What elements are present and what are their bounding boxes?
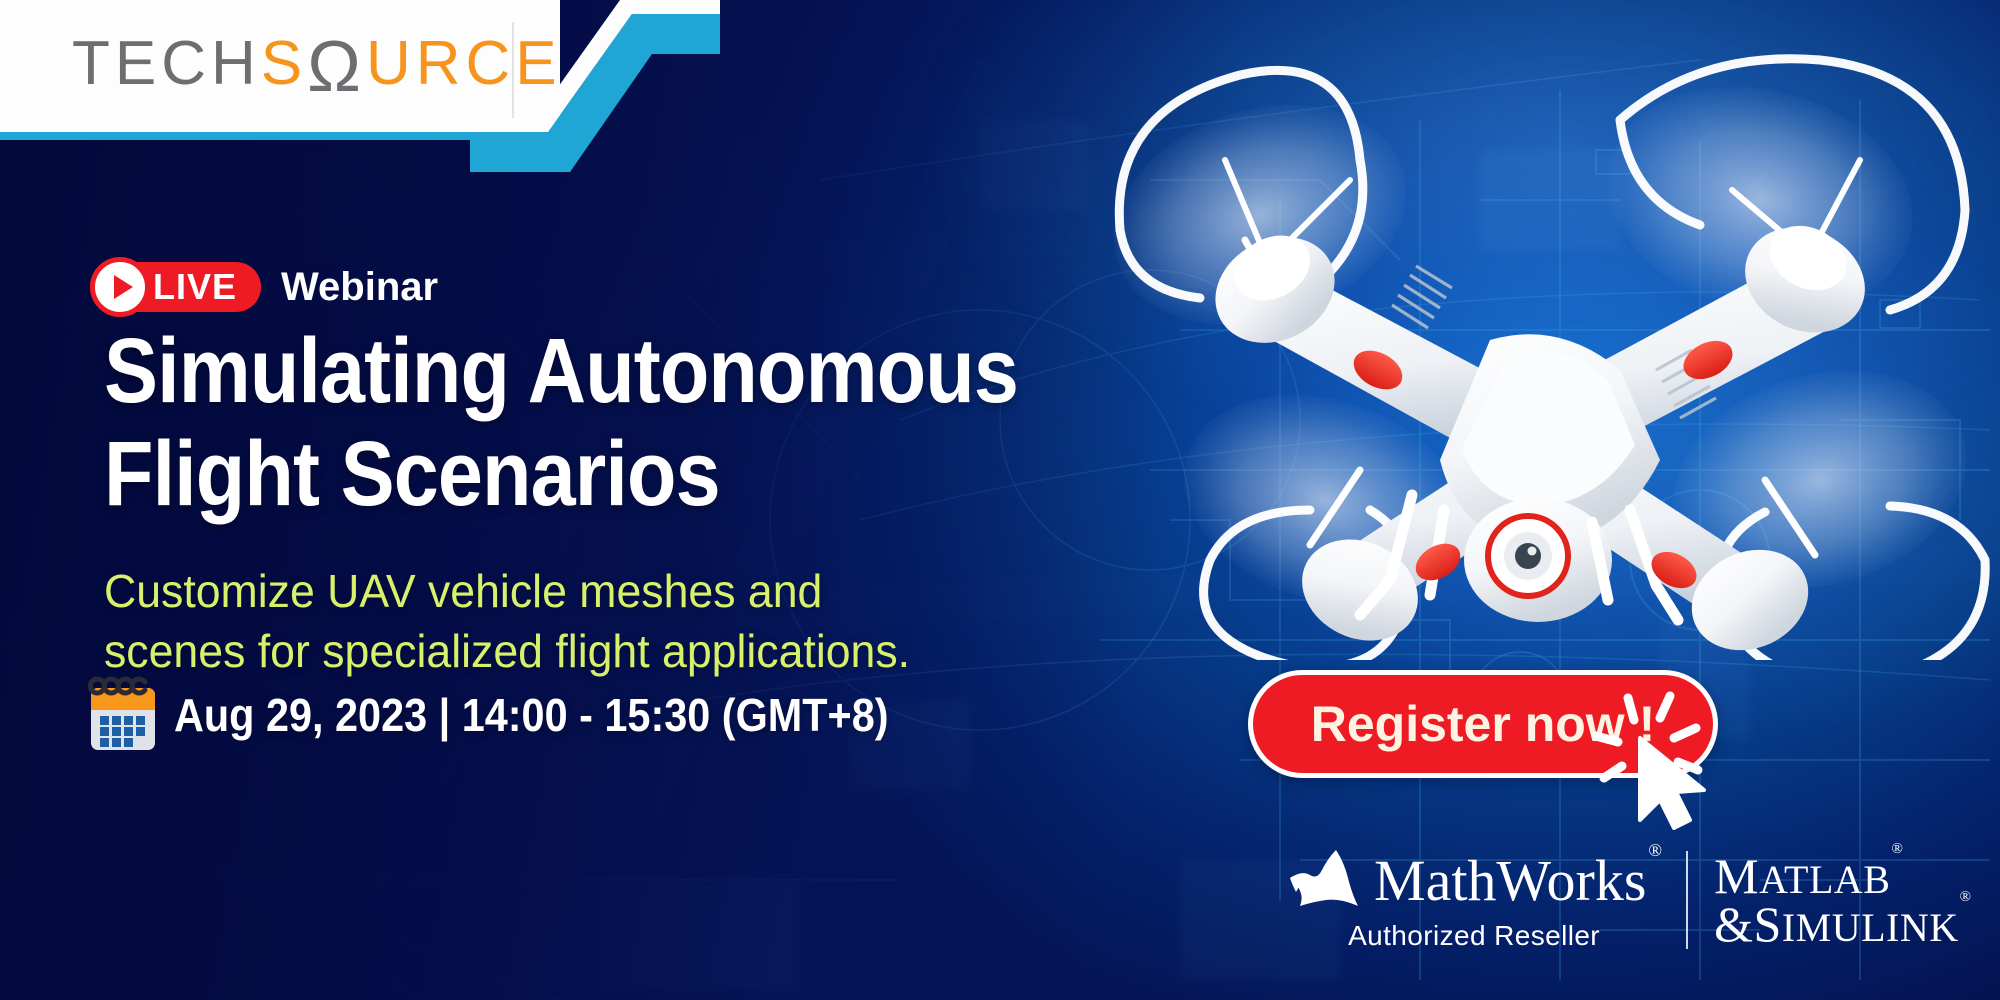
logo-divider (1686, 851, 1688, 949)
webinar-label: Webinar (281, 267, 438, 307)
live-label: LIVE (153, 269, 237, 305)
mathworks-wordmark: MathWorks® (1374, 852, 1660, 910)
drone-illustration (1060, 40, 2000, 660)
headline-line-1: Simulating Autonomous (104, 320, 1018, 423)
page-title: Simulating Autonomous Flight Scenarios (104, 320, 1018, 526)
subtitle-line-1: Customize UAV vehicle meshes and (104, 562, 910, 622)
logo-text-tech: TECH (72, 33, 261, 95)
live-badge: LIVE (95, 262, 261, 312)
page-subtitle: Customize UAV vehicle meshes and scenes … (104, 562, 910, 682)
simulink-wordmark: &SIMULINK® (1714, 900, 1970, 948)
matlab-wordmark: MATLAB® (1714, 852, 1970, 900)
register-cta[interactable]: Register now ! (1248, 670, 1718, 778)
mathworks-logo: MathWorks® Authorized Reseller (1288, 848, 1660, 952)
event-datetime-label: Aug 29, 2023 | 14:00 - 15:30 (GMT+8) (174, 692, 889, 738)
logo-text-s: S (261, 33, 307, 95)
play-icon (90, 257, 150, 317)
webinar-promo-banner: TECHSΩURCE LIVE Webinar Simulating Auton… (0, 0, 2000, 1000)
headline-line-2: Flight Scenarios (104, 423, 1018, 526)
logo-text-urce: URCE (366, 33, 562, 95)
subtitle-line-2: scenes for specialized flight applicatio… (104, 622, 910, 682)
partner-logos: MathWorks® Authorized Reseller MATLAB® &… (1288, 848, 1971, 952)
live-webinar-row: LIVE Webinar (95, 262, 438, 312)
matlab-simulink-logo: MATLAB® &SIMULINK® (1714, 852, 1970, 948)
mathworks-membrane-icon (1288, 848, 1360, 910)
authorized-reseller-label: Authorized Reseller (1348, 920, 1600, 952)
cursor-click-icon (1578, 680, 1728, 830)
event-datetime-row: Aug 29, 2023 | 14:00 - 15:30 (GMT+8) (86, 676, 968, 754)
calendar-icon (86, 676, 160, 754)
techsource-logo[interactable]: TECHSΩURCE (72, 28, 562, 100)
logo-omega-icon: Ω (307, 31, 366, 103)
